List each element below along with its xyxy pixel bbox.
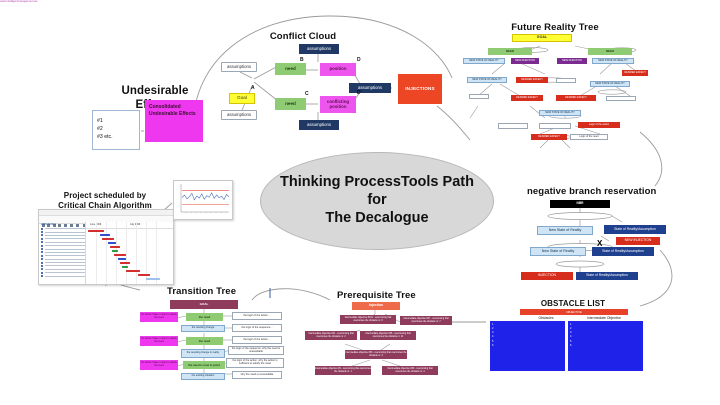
- tt-action-2: the action I take in order to satisfy th…: [140, 336, 178, 346]
- gantt-bar: [146, 278, 160, 280]
- tt-why-need-unavoidable: why the need is unavoidable: [232, 371, 282, 379]
- frt-new-state-2: NEW STATE OF REALITY: [592, 58, 634, 64]
- pt-injection: Injection: [352, 302, 400, 310]
- gantt-task-icon: [41, 272, 43, 274]
- frt-desired-effect-4: DESIRED EFFECT: [556, 95, 596, 101]
- frt-white-2: [469, 94, 489, 99]
- tt-action-3: the action I take in order to satisfy th…: [140, 360, 178, 370]
- gantt-timeline[interactable]: June 2009 July 2009: [86, 222, 173, 284]
- tt-logic-sequence-1: the logic of the sequence...: [232, 324, 282, 332]
- nbr-state-assumption-2: State of Reality/Assumption: [592, 247, 654, 256]
- frt-desired-effect-1: DESIRED EFFECT: [516, 77, 548, 83]
- center-ellipse: Thinking ProcessTools Path for The Decal…: [260, 152, 494, 250]
- cc-letter-c: C: [305, 91, 309, 97]
- gantt-task-text: [45, 228, 86, 229]
- frt-desired-effect-3: DESIRED EFFECT: [511, 95, 543, 101]
- pt-io-7: Intermediate objective #39 - overcoming …: [382, 366, 438, 375]
- tt-resulting-change-1: the resulting change: [181, 325, 225, 332]
- tt-logic-action-1: the logic of the action ...: [232, 312, 282, 320]
- obstacle-objective-bar: OBJECTIVE: [520, 309, 628, 315]
- frt-white-4: [498, 123, 528, 129]
- center-line-1: Thinking ProcessTools Path: [280, 174, 474, 192]
- gantt-task-row[interactable]: [39, 274, 85, 277]
- gantt-timeline-header: June 2009 July 2009: [86, 222, 173, 229]
- cc-assumptions-top: assumptions: [299, 44, 339, 54]
- pt-io-6: Intermediate objective #9 - overcoming t…: [315, 366, 371, 375]
- frt-new-state-1: NEW STATE OF REALITY: [463, 58, 505, 64]
- tt-resulting-change-reality: the resulting change in reality: [181, 349, 225, 358]
- gantt-bar: [120, 262, 130, 264]
- cc-letter-b: B: [300, 57, 304, 63]
- cc-letter-a: A: [251, 85, 255, 91]
- gantt-bar: [126, 270, 140, 272]
- transition-tree-title: Transition Tree: [167, 286, 277, 297]
- nbr-x-marker: X: [597, 239, 602, 248]
- gantt-task-icon: [41, 251, 43, 253]
- nbr-state-assumption-3: State of Reality/Assumption: [576, 272, 638, 280]
- gantt-task-icon: [41, 265, 43, 267]
- frt-goal: GOAL: [512, 34, 572, 42]
- control-chart-svg: [174, 181, 232, 219]
- tt-goal: GOAL: [170, 300, 238, 309]
- arc-injections-down: [437, 106, 470, 140]
- nbr-node: NBR: [550, 200, 610, 208]
- gantt-chart-window[interactable]: WBS/TASKS June 2009 Ju: [38, 209, 174, 285]
- obstacle-row: 6: [570, 344, 571, 348]
- nbr-state-assumption-1: State of Reality/Assumption: [604, 225, 666, 234]
- gantt-task-text: [45, 238, 86, 239]
- gantt-task-text: [45, 235, 86, 236]
- gantt-task-text: [45, 255, 86, 256]
- conflict-cloud-title: Conflict Cloud: [255, 31, 351, 42]
- cc-need-c: need: [275, 98, 306, 110]
- cc-assumptions-upper-left: assumptions: [221, 62, 257, 72]
- obstacle-rows-right: 1 2 3 4 5 6: [570, 323, 571, 348]
- obstacle-row: 6: [492, 344, 493, 348]
- cc-letter-d-prime: D': [357, 90, 362, 96]
- nbr-injection: INJECTION: [521, 272, 573, 280]
- frt-watermark: www.intelligentmanagement.ws: [0, 0, 58, 3]
- frt-logic-of-action: Logic of the action: [578, 122, 620, 128]
- pt-io-1: Intermediate objective #161 - overcoming…: [340, 315, 396, 324]
- frt-logic-of-need: Logic of the need: [570, 134, 608, 140]
- frt-need-2: NEED: [588, 48, 632, 55]
- tt-logic-sequence-why: the logic of the sequence: why the need …: [228, 346, 284, 355]
- frt-white-5: [539, 123, 571, 129]
- frt-white-1: [556, 78, 576, 83]
- gantt-title-line1: Project scheduled by: [45, 191, 165, 201]
- gantt-task-icon: [41, 258, 43, 260]
- center-ellipse-text: Thinking ProcessTools Path for The Decal…: [280, 174, 474, 227]
- gantt-body[interactable]: WBS/TASKS June 2009 Ju: [39, 222, 173, 284]
- gantt-bar: [118, 258, 126, 260]
- future-reality-tree-title: Future Reality Tree: [495, 22, 615, 33]
- gantt-task-icon: [41, 262, 43, 264]
- frt-desired-effect-5: DESIRED EFFECT: [531, 134, 567, 140]
- cc-goal-node: Goal: [229, 93, 255, 104]
- gantt-task-text: [45, 259, 86, 260]
- pt-io-3: Intermediate objective #21 - overcoming …: [305, 331, 357, 340]
- gantt-task-icon: [41, 268, 43, 270]
- ude-item-3: #3 etc.: [97, 133, 136, 141]
- tt-logic-action-2: the logic of the action ...: [232, 336, 282, 344]
- arc-nbr-to-obstacles: [640, 250, 672, 306]
- consolidated-undesirable-effects: Consolidated Undesirable Effects: [145, 100, 203, 142]
- obstacle-col-header-1: Obstacles: [520, 316, 572, 320]
- gantt-task-list[interactable]: WBS/TASKS: [39, 222, 86, 284]
- tt-existing-situation: the existing situation: [181, 373, 225, 380]
- gantt-task-icon: [41, 245, 43, 247]
- gantt-task-icon: [41, 238, 43, 240]
- control-chart: [173, 180, 233, 220]
- nbr-new-state-1: New State of Reality: [537, 226, 593, 235]
- negative-branch-reservation-title: negative branch reservation: [527, 186, 667, 197]
- tt-need-1: the need: [186, 313, 223, 321]
- obstacle-rows-left: 1 2 3 4 5 6: [492, 323, 493, 348]
- gantt-task-text: [45, 242, 86, 243]
- center-line-3: The Decalogue: [280, 210, 474, 228]
- gantt-task-text: [45, 262, 86, 263]
- tt-need-2: the need: [186, 337, 223, 345]
- pt-io-4: Intermediate objective #45 - overcoming …: [360, 331, 416, 340]
- gantt-task-icon: [41, 234, 43, 236]
- cc-assumptions-lower-left: assumptions: [221, 110, 257, 120]
- ude-item-1: #1: [97, 117, 136, 125]
- nbr-new-state-2: New State of Reality: [530, 247, 586, 256]
- gantt-task-text: [45, 252, 86, 253]
- gantt-bar: [108, 242, 116, 244]
- nbr-new-injection: NEW INJECTION: [616, 237, 660, 245]
- gantt-task-icon: [41, 241, 43, 243]
- pt-io-5: Intermediate objective #33 - overcoming …: [345, 350, 407, 359]
- cc-letter-d: D: [357, 57, 361, 63]
- gantt-task-icon: [41, 255, 43, 257]
- pt-io-2: Intermediate objective #27 - overcoming …: [400, 316, 452, 325]
- gantt-bar: [112, 250, 118, 252]
- ude-item-2: #2: [97, 125, 136, 133]
- gantt-bar: [102, 238, 114, 240]
- obstacle-pane-obstacles[interactable]: 1 2 3 4 5 6: [490, 321, 565, 371]
- frt-desired-effect-2: DESIRED EFFECT: [622, 70, 648, 76]
- ude-title-line1: Undesirable: [100, 84, 210, 98]
- frt-new-state-4: NEW STATE OF REALITY: [590, 81, 630, 87]
- gantt-task-text: [45, 245, 86, 246]
- gantt-task-text: [45, 232, 86, 233]
- frt-white-3: [606, 96, 636, 101]
- obstacle-list-title: OBSTACLE LIST: [518, 299, 628, 308]
- prerequisite-tree-title: Prerequisite Tree: [337, 290, 447, 301]
- cc-assumptions-bottom: assumptions: [299, 120, 339, 130]
- gantt-task-icon: [41, 248, 43, 250]
- undesirable-effects-list: #1 #2 #3 etc.: [92, 110, 140, 150]
- tt-action-1: the action I take in order to satisfy th…: [140, 312, 178, 322]
- obstacle-pane-intermediate-objectives[interactable]: 1 2 3 4 5 6: [568, 321, 643, 371]
- cc-need-b: need: [275, 63, 306, 75]
- obstacle-col-header-2: Intermediate Objective: [576, 316, 632, 320]
- frt-new-injection-1: NEW INJECTION: [511, 58, 539, 64]
- gantt-task-text: [45, 276, 86, 277]
- gantt-task-icon: [41, 275, 43, 277]
- gantt-task-text: [45, 265, 86, 266]
- gantt-bar: [110, 246, 120, 248]
- frt-new-state-3: NEW STATE OF REALITY: [467, 77, 507, 83]
- tt-logic-action-sufficient: the logic of the action: why the action …: [226, 358, 284, 368]
- injections-box: INJECTIONS: [398, 74, 442, 104]
- tt-need-now-in-point: the need is now in point: [183, 361, 225, 369]
- cc-position-d: position: [320, 63, 356, 76]
- gantt-task-text: [45, 272, 86, 273]
- frt-need-1: NEED: [488, 48, 532, 55]
- gantt-task-icon: [41, 231, 43, 233]
- arc-frt-to-nbr: [640, 132, 662, 186]
- frt-new-injection-2: NEW INJECTION: [557, 58, 587, 64]
- center-line-2: for: [280, 192, 474, 210]
- gantt-task-text: [45, 249, 86, 250]
- gantt-task-text: [45, 269, 86, 270]
- gantt-bar: [138, 274, 150, 276]
- gantt-task-icon: [41, 228, 43, 230]
- cc-assumptions-right: assumptions: [349, 83, 391, 93]
- frt-new-state-5: NEW STATE OF REALITY: [539, 110, 581, 116]
- gantt-bar: [122, 266, 128, 268]
- diagram-canvas: Thinking ProcessTools Path for The Decal…: [0, 0, 720, 405]
- gantt-bar: [100, 234, 110, 236]
- cc-conflicting-position-d-prime: conflicting position: [320, 96, 356, 113]
